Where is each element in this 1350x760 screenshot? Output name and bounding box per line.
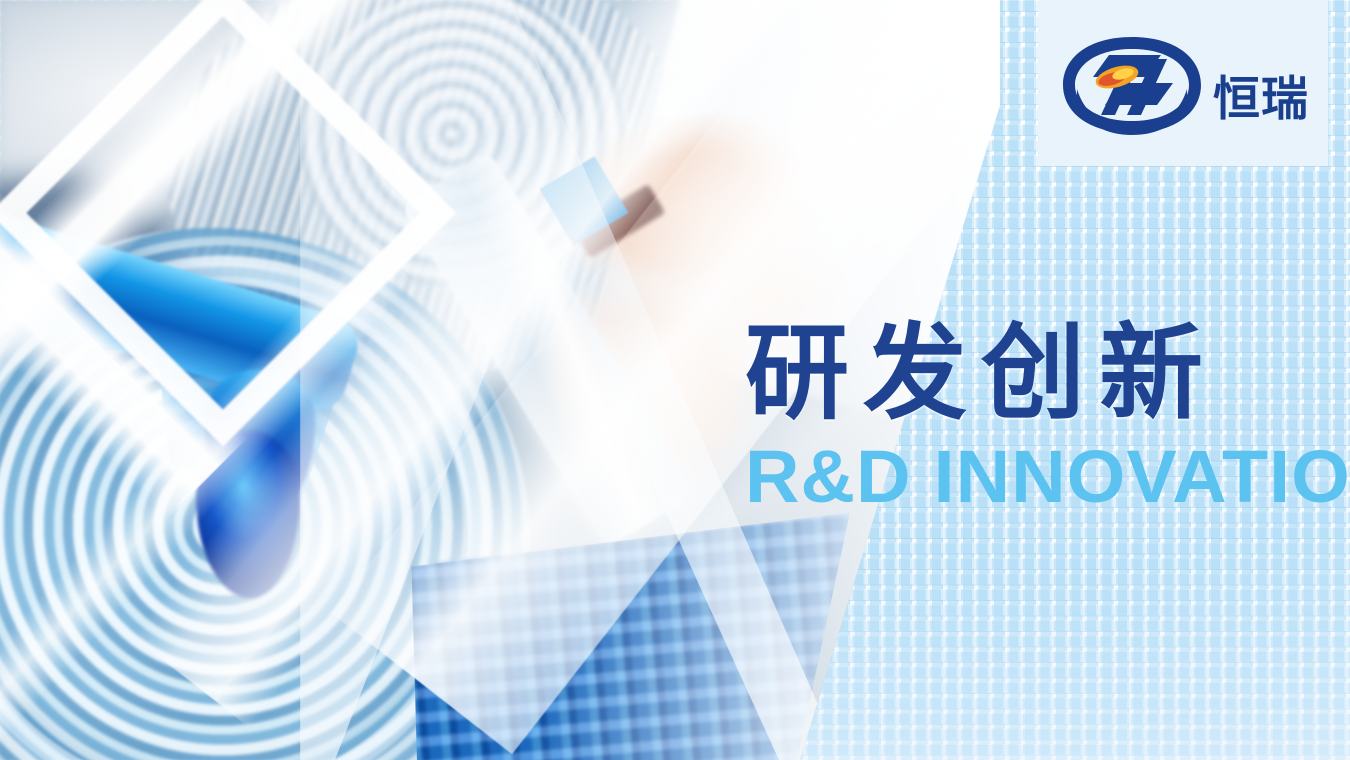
logo-plate: 恒瑞 [1038,0,1328,166]
logo-brand-text: 恒瑞 [1213,76,1309,123]
hengrui-logo-icon [1057,29,1207,141]
headline-block: 研发创新 R&D INNOVATION [745,318,1345,514]
headline-english: R&D INNOVATION [745,428,1350,514]
rd-innovation-banner: 研发创新 R&D INNOVATION [0,0,1350,760]
headline-chinese: 研发创新 [745,318,1345,428]
logo-wrap: 恒瑞 [1057,29,1309,141]
